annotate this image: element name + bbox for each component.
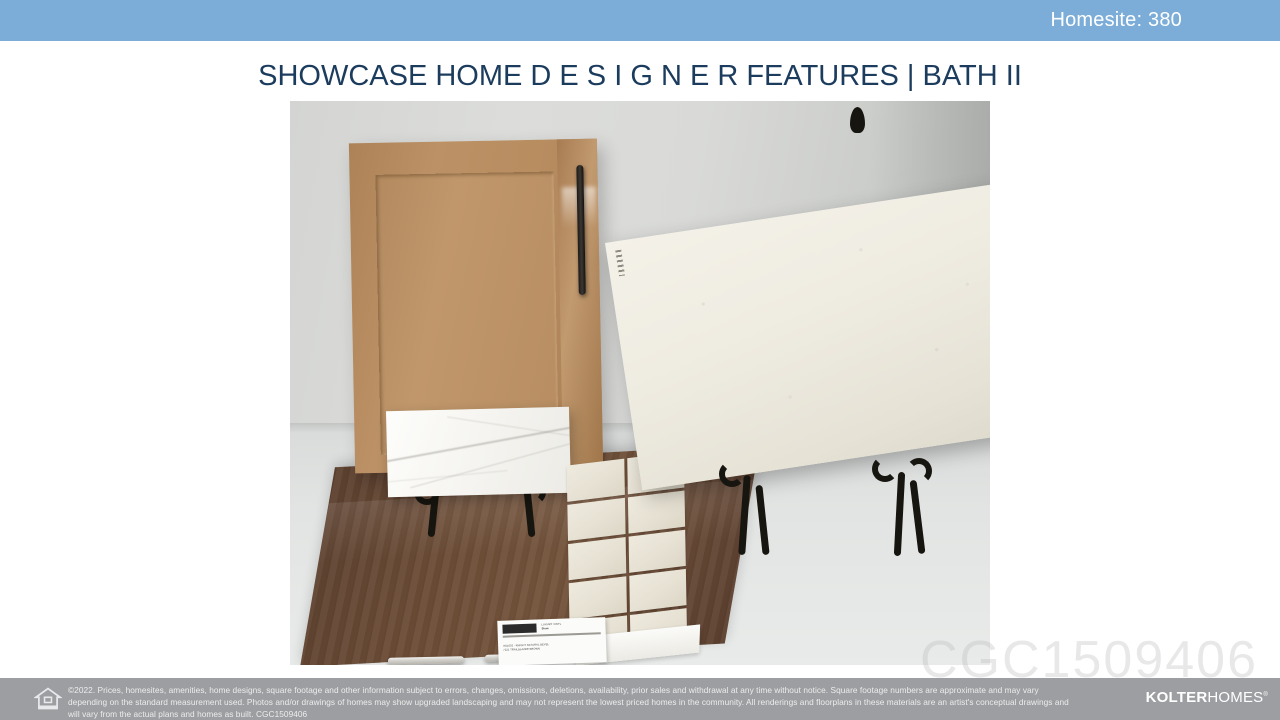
mosaic-tile (567, 459, 625, 502)
mosaic-tile (628, 530, 686, 573)
countertop-marble-sample (386, 407, 571, 497)
iron-finial-top (850, 107, 880, 141)
iron-curl (906, 458, 932, 484)
marble-vein (447, 416, 571, 437)
iron-leg (755, 485, 769, 555)
footer-bar: ©2022. Prices, homesites, amenities, hom… (0, 678, 1280, 720)
marble-vein (410, 442, 571, 488)
iron-leg (910, 480, 926, 554)
kolter-homes-logo: KOLTERHOMES® (1146, 689, 1268, 706)
header-bar: Homesite: 380 (0, 0, 1280, 41)
iron-leg (738, 475, 751, 555)
iron-curl (719, 461, 745, 487)
equal-housing-opportunity-icon (34, 686, 62, 712)
kolter-logo-bold: KOLTER (1146, 689, 1208, 706)
designer-features-photo: LUXURY VINYL Shaw HS1002 - KNIGHT NATURA… (290, 101, 990, 665)
iron-stand-tile-right (870, 456, 940, 561)
mosaic-tile (569, 576, 627, 619)
mosaic-tile (627, 490, 685, 533)
marble-vein (386, 424, 571, 464)
mosaic-tile (567, 498, 625, 541)
spec-card-brand-logo (502, 624, 536, 634)
iron-stand-tile-left (715, 461, 785, 561)
product-spec-card: LUXURY VINYL Shaw HS1002 - KNIGHT NATURA… (497, 617, 607, 665)
iron-finial (850, 107, 865, 133)
iron-curl (872, 456, 898, 482)
kolter-logo-regular: HOMES (1207, 689, 1263, 706)
iron-leg (894, 472, 905, 556)
kolter-logo-trademark: ® (1263, 692, 1268, 698)
page-title: SHOWCASE HOME D E S I G N E R FEATURES |… (0, 60, 1280, 93)
homesite-label: Homesite: 380 (1050, 9, 1182, 32)
mosaic-tile (629, 569, 687, 612)
legal-disclaimer: ©2022. Prices, homesites, amenities, hom… (68, 684, 1078, 720)
marble-vein (388, 470, 508, 482)
mosaic-tile (568, 537, 626, 580)
